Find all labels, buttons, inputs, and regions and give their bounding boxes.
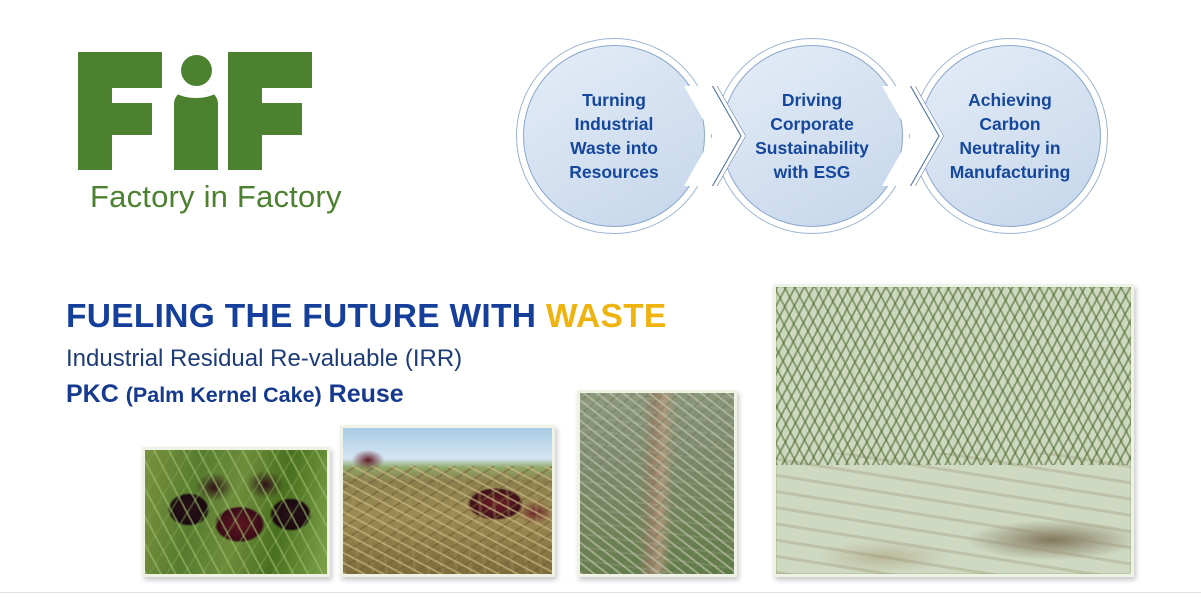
fif-logo: Factory in Factory	[78, 52, 368, 227]
photo-palm-waste-heap-image	[343, 428, 552, 574]
logo-tagline: Factory in Factory	[90, 179, 342, 215]
subtitle-pkc-paren: (Palm Kernel Cake)	[126, 383, 322, 407]
process-step-1[interactable]: Turning Industrial Waste into Resources	[516, 38, 712, 234]
process-flow: Turning Industrial Waste into Resources …	[516, 38, 1116, 243]
letter-f-right-icon	[228, 52, 312, 170]
fif-logo-mark	[78, 52, 328, 170]
letter-f-left-icon	[78, 52, 162, 170]
photo-palm-plantation-image	[776, 287, 1131, 574]
process-step-1-label: Turning Industrial Waste into Resources	[559, 88, 669, 185]
process-step-2-body: Driving Corporate Sustainability with ES…	[721, 45, 903, 227]
slide-canvas: Factory in Factory Turning Industrial Wa…	[0, 0, 1201, 600]
person-i-figure-icon	[172, 52, 220, 170]
photo-palm-waste-heap	[340, 425, 555, 577]
process-step-2-label: Driving Corporate Sustainability with ES…	[745, 88, 879, 185]
process-step-3-body: Achieving Carbon Neutrality in Manufactu…	[919, 45, 1101, 227]
page-title: FUELING THE FUTURE WITH WASTE	[66, 298, 667, 336]
photo-dried-fronds-image	[580, 393, 734, 574]
photo-dried-fronds	[577, 390, 737, 577]
photo-palm-fruit-bunch	[142, 447, 330, 577]
subtitle-pkc: PKC (Palm Kernel Cake) Reuse	[66, 380, 404, 409]
page-title-lead: FUELING THE FUTURE WITH	[66, 298, 546, 335]
subtitle-irr: Industrial Residual Re-valuable (IRR)	[66, 345, 462, 373]
subtitle-pkc-suffix: Reuse	[322, 380, 404, 408]
subtitle-pkc-prefix: PKC	[66, 380, 126, 408]
page-title-accent: WASTE	[546, 298, 667, 335]
photo-palm-fruit-bunch-image	[145, 450, 327, 574]
process-step-1-body: Turning Industrial Waste into Resources	[523, 45, 705, 227]
photo-palm-plantation	[773, 284, 1134, 577]
process-step-3-label: Achieving Carbon Neutrality in Manufactu…	[940, 88, 1081, 185]
bottom-divider	[0, 592, 1201, 593]
